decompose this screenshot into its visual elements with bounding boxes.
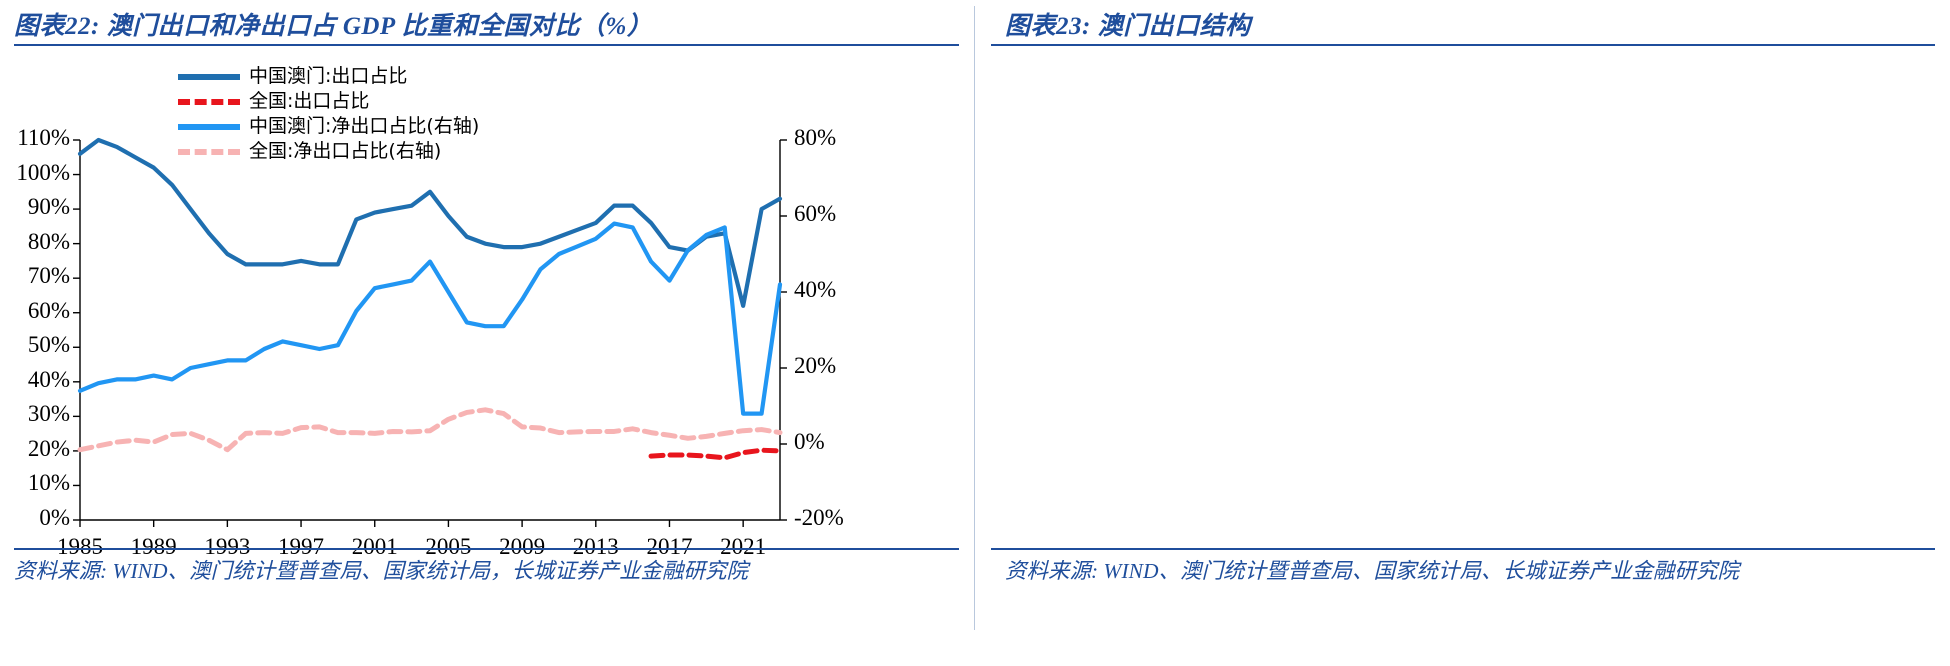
y-axis-label-left: 40% — [4, 367, 70, 393]
y-axis-label-right: 60% — [794, 201, 836, 227]
series-全国:出口占比 — [651, 450, 780, 458]
y-axis-label: 60% — [1935, 277, 1950, 303]
figure-title-23: 图表23: 澳门出口结构 — [1005, 6, 1940, 42]
y-axis-label-left: 20% — [4, 436, 70, 462]
panel-right: 图表23: 澳门出口结构 中国澳门出口：服务占比 中国澳门出口：货物占比 100… — [975, 0, 1950, 666]
y-axis-label-left: 60% — [4, 298, 70, 324]
y-axis-label-left: 110% — [4, 125, 70, 151]
panel-left: 图表22: 澳门出口和净出口占 GDP 比重和全国对比（%） 中国澳门:出口占比… — [0, 0, 975, 666]
y-axis-label-left: 10% — [4, 470, 70, 496]
y-axis-label-left: 80% — [4, 229, 70, 255]
series-中国澳门:净出口占比(右轴) — [80, 224, 780, 414]
chart-left: 110%100%90%80%70%60%50%40%30%20%10%0%80%… — [80, 140, 780, 520]
figure-page: 图表22: 澳门出口和净出口占 GDP 比重和全国对比（%） 中国澳门:出口占比… — [0, 0, 1950, 666]
y-axis-label-right: 40% — [794, 277, 836, 303]
source-note-right: 资料来源: WIND、澳门统计暨普查局、国家统计局、长城证券产业金融研究院 — [1005, 556, 1935, 586]
series-全国:净出口占比(右轴) — [80, 410, 780, 450]
y-axis-label: 40% — [1935, 353, 1950, 379]
y-axis-label: 20% — [1935, 429, 1950, 455]
y-axis-label-left: 50% — [4, 332, 70, 358]
legend-item: 中国澳门:净出口占比(右轴) — [178, 114, 479, 139]
y-axis-label-left: 70% — [4, 263, 70, 289]
legend-label: 中国澳门:净出口占比(右轴) — [249, 117, 479, 136]
source-note-left: 资料来源: WIND、澳门统计暨普查局、国家统计局，长城证券产业金融研究院 — [14, 556, 954, 586]
y-axis-label-left: 0% — [4, 505, 70, 531]
legend-item: 全国:出口占比 — [178, 89, 479, 114]
source-rule-right — [991, 548, 1935, 550]
y-axis-label-left: 100% — [4, 160, 70, 186]
y-axis-label-right: -20% — [794, 505, 844, 531]
y-axis-label: 80% — [1935, 201, 1950, 227]
y-axis-label: 0% — [1935, 505, 1950, 531]
figure-title-22: 图表22: 澳门出口和净出口占 GDP 比重和全国对比（%） — [14, 6, 965, 42]
title-rule-right — [991, 44, 1935, 46]
legend-item: 中国澳门:出口占比 — [178, 64, 479, 89]
y-axis-label-right: 80% — [794, 125, 836, 151]
y-axis-label-left: 30% — [4, 401, 70, 427]
legend-label: 全国:出口占比 — [249, 92, 369, 111]
y-axis-label: 100% — [1935, 125, 1950, 151]
legend-label: 中国澳门:出口占比 — [249, 67, 407, 86]
y-axis-label-right: 0% — [794, 429, 825, 455]
y-axis-label-left: 90% — [4, 194, 70, 220]
chart-left-canvas — [80, 140, 780, 520]
source-rule-left — [14, 548, 959, 550]
series-中国澳门:出口占比 — [80, 140, 780, 306]
title-rule-left — [14, 44, 959, 46]
y-axis-label-right: 20% — [794, 353, 836, 379]
